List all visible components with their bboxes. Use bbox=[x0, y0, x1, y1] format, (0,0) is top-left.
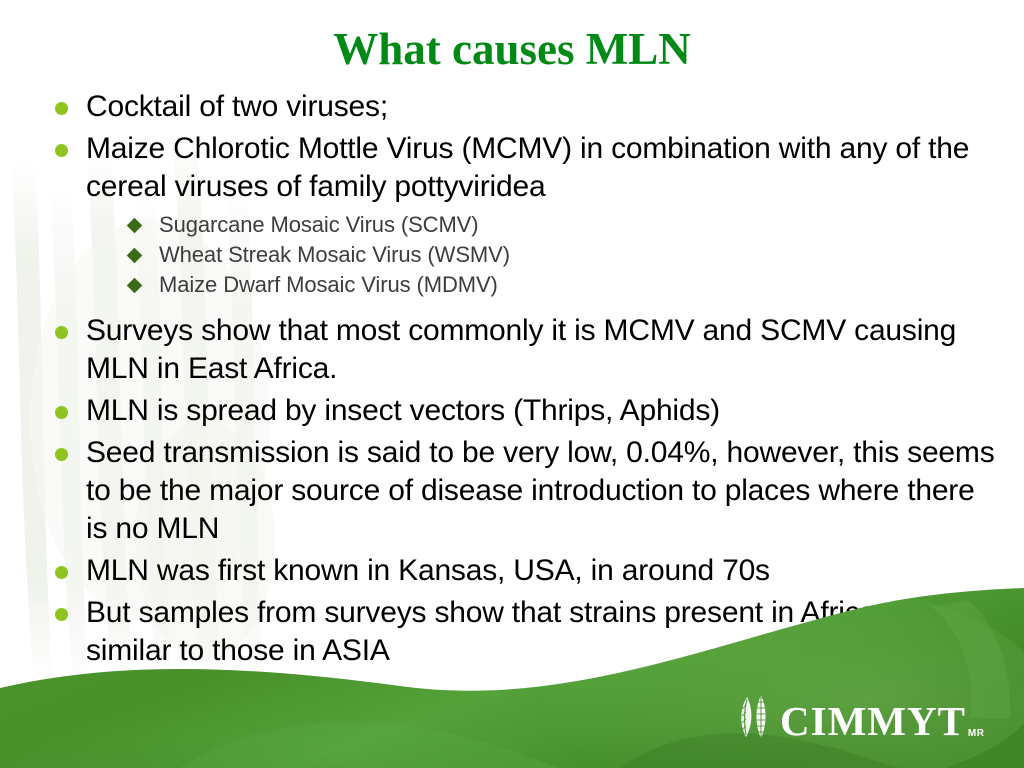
list-item-text: But samples from surveys show that strai… bbox=[86, 594, 1000, 670]
list-item: MLN is spread by insect vectors (Thrips,… bbox=[55, 392, 1000, 430]
logo-wordmark: CIMMYT bbox=[780, 701, 966, 742]
bullet-circle-icon bbox=[55, 102, 68, 115]
list-item: But samples from surveys show that strai… bbox=[55, 594, 1000, 670]
logo-trademark: MR bbox=[968, 729, 985, 739]
sub-list-item-text: Wheat Streak Mosaic Virus (WSMV) bbox=[159, 240, 510, 270]
list-item: MLN was first known in Kansas, USA, in a… bbox=[55, 552, 1000, 590]
bullet-circle-icon bbox=[55, 566, 68, 579]
slide-canvas: What causes MLN Cocktail of two viruses;… bbox=[0, 0, 1024, 768]
list-item: Cocktail of two viruses; bbox=[55, 88, 1000, 126]
bullet-circle-icon bbox=[55, 608, 68, 621]
slide-content-body: Cocktail of two viruses; Maize Chlorotic… bbox=[55, 88, 1000, 674]
sub-list-item: Sugarcane Mosaic Virus (SCMV) bbox=[55, 210, 1000, 240]
sub-list-item: Maize Dwarf Mosaic Virus (MDMV) bbox=[55, 270, 1000, 300]
list-item-text: Seed transmission is said to be very low… bbox=[86, 434, 1000, 548]
bullet-circle-icon bbox=[55, 326, 68, 339]
bullet-circle-icon bbox=[55, 144, 68, 157]
list-item-text: Maize Chlorotic Mottle Virus (MCMV) in c… bbox=[86, 130, 1000, 206]
cimmyt-logo: CIMMYT MR bbox=[736, 694, 984, 742]
sub-list-item-text: Sugarcane Mosaic Virus (SCMV) bbox=[159, 210, 478, 240]
bullet-circle-icon bbox=[55, 406, 68, 419]
bullet-diamond-icon bbox=[127, 278, 143, 294]
list-item-text: MLN was first known in Kansas, USA, in a… bbox=[86, 552, 770, 590]
list-item: Seed transmission is said to be very low… bbox=[55, 434, 1000, 548]
list-item-text: Surveys show that most commonly it is MC… bbox=[86, 312, 1000, 388]
list-item: Surveys show that most commonly it is MC… bbox=[55, 312, 1000, 388]
sub-list-item: Wheat Streak Mosaic Virus (WSMV) bbox=[55, 240, 1000, 270]
slide-title: What causes MLN bbox=[0, 26, 1024, 73]
bullet-diamond-icon bbox=[127, 218, 143, 234]
list-item-text: MLN is spread by insect vectors (Thrips,… bbox=[86, 392, 720, 430]
wheat-ear-icon bbox=[736, 694, 778, 740]
sub-list-item-text: Maize Dwarf Mosaic Virus (MDMV) bbox=[159, 270, 498, 300]
bullet-circle-icon bbox=[55, 448, 68, 461]
list-item-text: Cocktail of two viruses; bbox=[86, 88, 388, 126]
list-item: Maize Chlorotic Mottle Virus (MCMV) in c… bbox=[55, 130, 1000, 206]
bullet-diamond-icon bbox=[127, 248, 143, 264]
